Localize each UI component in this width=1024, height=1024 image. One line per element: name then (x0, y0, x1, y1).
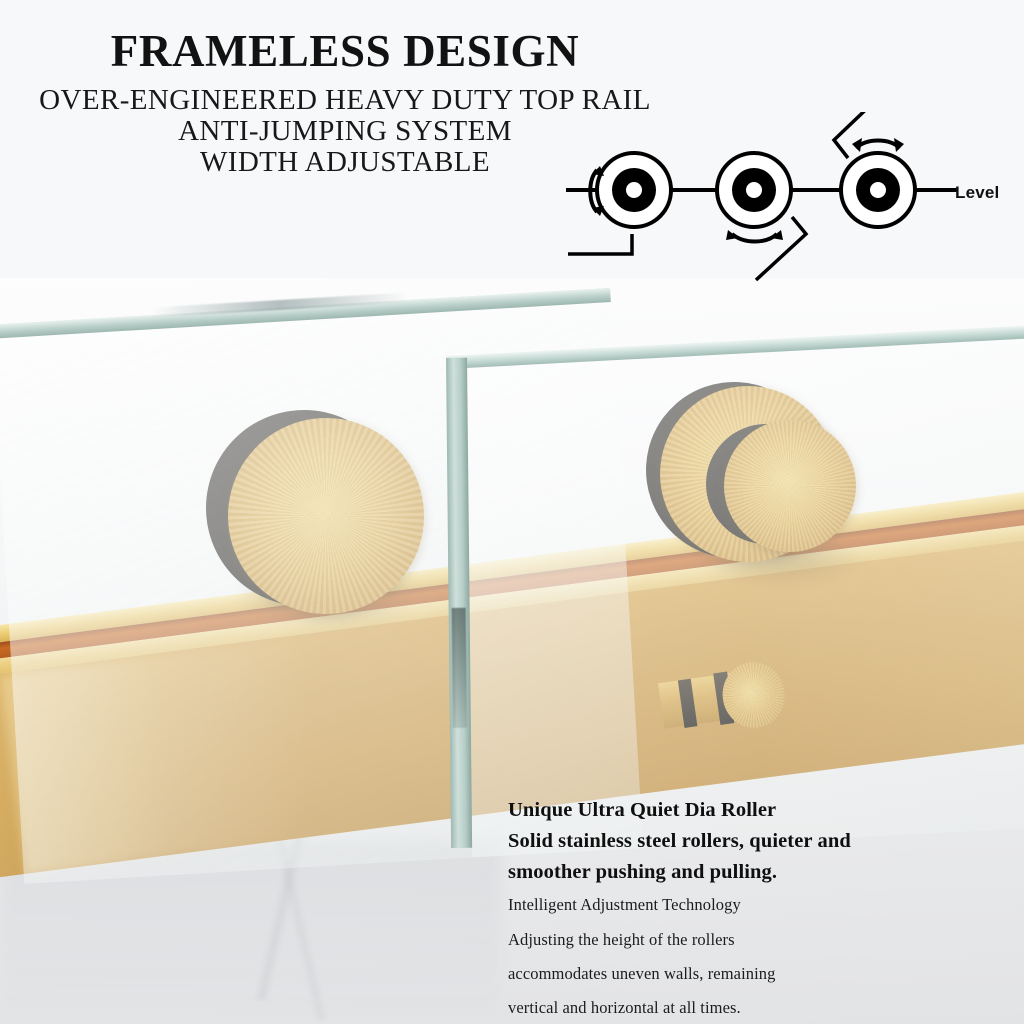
front-glass-panel (446, 327, 1024, 858)
arc-arrow-below-icon (732, 234, 777, 242)
caption-text-line-4: vertical and horizontal at all times. (508, 991, 978, 1024)
product-infographic: FRAMELESS DESIGN OVER-ENGINEERED HEAVY D… (0, 0, 1024, 1024)
arrow-head-left (852, 138, 862, 152)
roller-adjustment-diagram (548, 112, 1024, 282)
diagram-roller-2 (717, 153, 791, 227)
caption-text-line-2: Adjusting the height of the rollers (508, 923, 978, 957)
arrow-head-right (894, 138, 904, 152)
caption-text-line-3: accommodates uneven walls, remaining (508, 957, 978, 991)
allen-key-icon-3 (834, 112, 878, 158)
caption-bold-line-2: Solid stainless steel rollers, quieter a… (508, 826, 978, 857)
caption-bold-line-1: Unique Ultra Quiet Dia Roller (508, 795, 978, 826)
diagram-roller-3 (841, 153, 915, 227)
caption-block: Unique Ultra Quiet Dia Roller Solid stai… (508, 795, 978, 1024)
caption-text-line-1: Intelligent Adjustment Technology (508, 888, 978, 922)
page-title: FRAMELESS DESIGN (0, 28, 690, 75)
caption-bold-line-3: smoother pushing and pulling. (508, 857, 978, 888)
arc-arrow-above-icon (856, 141, 900, 149)
diagram-roller-1 (597, 153, 671, 227)
level-label: Level (955, 183, 999, 203)
allen-key-icon-1 (568, 234, 632, 254)
